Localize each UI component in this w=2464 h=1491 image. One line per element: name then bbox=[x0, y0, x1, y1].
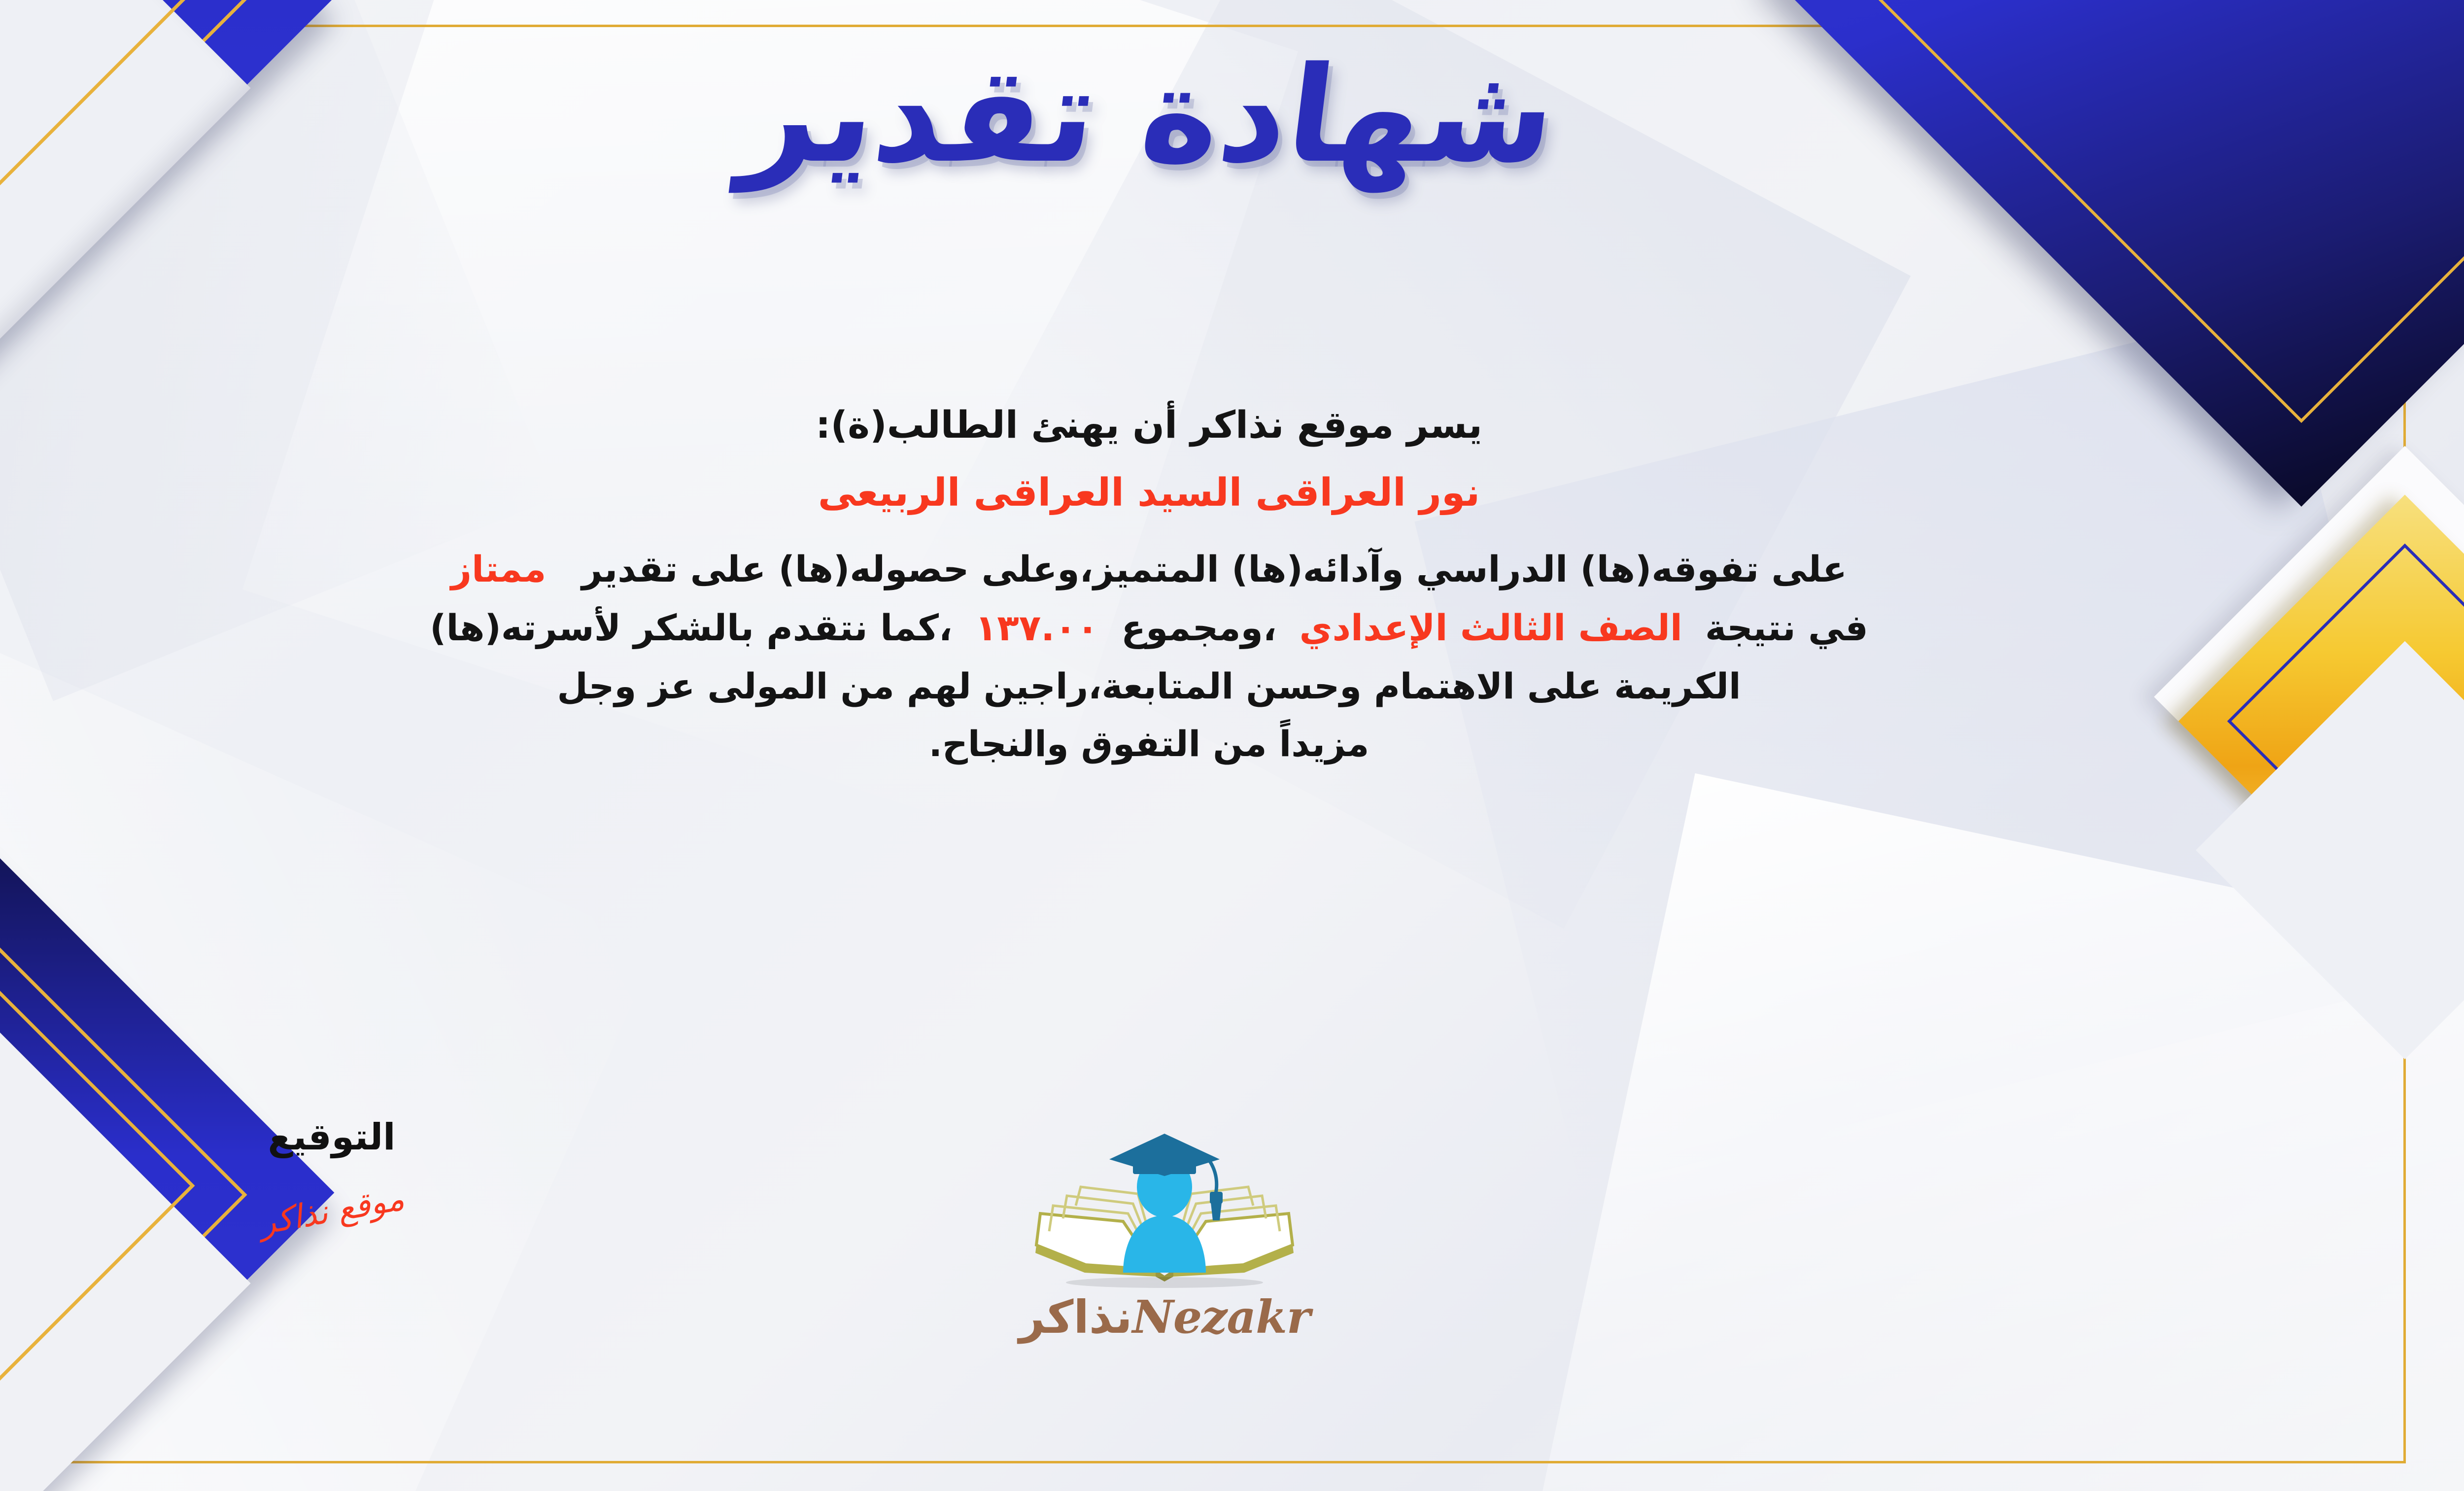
logo-arabic-text: نذاكر bbox=[1019, 1291, 1132, 1344]
result-prefix: في نتيجة bbox=[1705, 607, 1868, 649]
certificate-page: شهادة تقدير يسر موقع نذاكر أن يهنئ الطال… bbox=[0, 0, 2464, 1491]
paper-facet bbox=[1541, 773, 2464, 1491]
chevron-notch bbox=[0, 0, 251, 367]
chevron-notch-gold-line bbox=[0, 0, 195, 213]
body-line-wishes: مزيداً من التفوق والنجاح. bbox=[0, 715, 2361, 773]
graduate-book-icon bbox=[1027, 1129, 1302, 1291]
chevron-blue-plate bbox=[0, 0, 334, 360]
total-score-value: ١٣٧.٠٠ bbox=[975, 607, 1099, 649]
logo-wordmark: Nezakrنذاكر bbox=[967, 1294, 1362, 1340]
chevron-gold-line bbox=[0, 0, 247, 275]
class-value: الصف الثالث الإعدادي bbox=[1300, 607, 1682, 649]
corner-gold-line bbox=[1862, 0, 2464, 423]
body-line-thanks: الكريمة على الاهتمام وحسن المتابعة،راجين… bbox=[0, 658, 2361, 715]
total-label: ،ومجموع bbox=[1121, 607, 1277, 649]
signature-label: التوقيع bbox=[149, 1119, 514, 1155]
certificate-title-block: شهادة تقدير bbox=[0, 39, 2464, 191]
body-line-achievement: على تفوقه(ها) الدراسي وآدائه(ها) المتميز… bbox=[0, 541, 2361, 599]
signature-script: موقع نذاكر bbox=[256, 1179, 407, 1242]
certificate-title: شهادة تقدير bbox=[734, 39, 1564, 191]
achievement-text: على تفوقه(ها) الدراسي وآدائه(ها) المتميز… bbox=[582, 549, 1847, 590]
thanks-prefix: ،كما نتقدم بالشكر لأسرته(ها) bbox=[430, 607, 953, 649]
site-logo: Nezakrنذاكر bbox=[967, 1129, 1362, 1340]
chevron-notch bbox=[0, 1005, 251, 1491]
student-name: نور العراقى السيد العراقى الربيعى bbox=[0, 462, 2361, 524]
body-line-result: في نتيجةالصف الثالث الإعدادي،ومجموع١٣٧.٠… bbox=[0, 599, 2361, 658]
certificate-body: يسر موقع نذاكر أن يهنئ الطالب(ة): نور ال… bbox=[0, 394, 2361, 772]
grade-value: ممتاز bbox=[451, 549, 546, 590]
logo-latin-text: Nezakr bbox=[1132, 1290, 1310, 1344]
body-line-intro: يسر موقع نذاكر أن يهنئ الطالب(ة): bbox=[0, 394, 2361, 455]
signature-block: التوقيع موقع نذاكر bbox=[149, 1119, 514, 1230]
